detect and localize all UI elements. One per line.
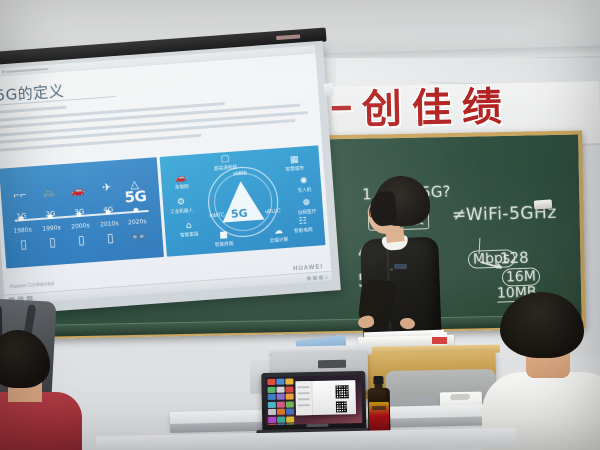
icon-feature-phone: ▯ <box>43 234 62 249</box>
satellite-item: ⚙工业机器人 <box>165 196 198 215</box>
taskbar-tray[interactable]: △ <box>307 274 328 281</box>
slide-footer: Huawei Confidential <box>10 281 55 290</box>
presenter-badge <box>394 264 407 269</box>
icon-bicycle: 🚲 <box>38 184 59 198</box>
satellite-item: ✺无人机 <box>287 175 320 194</box>
satellite-item: ⌂智能家居 <box>172 220 205 239</box>
timeline-gen-3: 3G <box>74 208 84 217</box>
satellite-item: ▢超高清视频 <box>208 153 243 172</box>
seated-student <box>486 292 600 450</box>
os-taskbar: △ <box>4 271 332 305</box>
timeline-year-1: 1980s <box>9 226 35 235</box>
seated-student-left <box>0 330 98 450</box>
banner-char-1: 创 <box>361 89 402 130</box>
satellite-item: 🚗车联网 <box>165 172 198 191</box>
timeline-year-4: 2010s <box>96 220 122 229</box>
paper-cup-band <box>432 337 447 344</box>
icon-car: 🚗 <box>67 183 88 197</box>
screen-side-clip <box>324 83 334 96</box>
chalk-note-128: 128 <box>500 249 529 268</box>
icon-vr-goggles: 👓 <box>128 229 149 244</box>
laptop-screen[interactable] <box>265 375 362 425</box>
triangle-center-label: 5G <box>231 207 249 221</box>
toolbar-line <box>6 68 48 73</box>
slide-infographic: ⌐⌐ 🚲 🚗 ✈ △ 1G 2G 3G 4G 5G 1980s 1990s 20… <box>0 145 326 268</box>
qr-code-icon <box>336 401 347 412</box>
triangle-corner-right: uRLLC <box>260 208 286 216</box>
timeline-panel: ⌐⌐ 🚲 🚗 ✈ △ 1G 2G 3G 4G 5G 1980s 1990s 20… <box>0 157 164 268</box>
satellite-item: ▦智慧城市 <box>278 154 311 173</box>
bottle-cap <box>373 376 383 384</box>
left-student-hair <box>0 330 50 388</box>
laptop-brand-mark <box>306 424 328 427</box>
satellite-item: ☸远程医疗 <box>291 197 322 216</box>
banner-char-2: 佳 <box>411 88 452 129</box>
icon-smartphone: ▯ <box>101 230 120 245</box>
bottle-label <box>369 402 390 432</box>
satellite-item: ☷智能电网 <box>286 216 319 235</box>
chalk-eraser <box>534 199 553 209</box>
timeline-gen-4: 4G <box>103 206 113 215</box>
laptop-lid <box>261 371 366 433</box>
timeline-gen-5: 5G <box>124 187 147 207</box>
capability-panel: 5G eMBB mMTC uRLLC ▢超高清视频 ▦智慧城市 🚗车联网 ⚙工业… <box>160 145 326 256</box>
icon-ox-cart: ⌐⌐ <box>10 189 31 202</box>
desktop-icon-grid[interactable] <box>267 378 294 423</box>
screen-bar-label <box>276 34 300 40</box>
banner-char-3: 绩 <box>461 87 502 128</box>
screen-surface: 5G的定义 <box>0 41 341 316</box>
timeline-gen-1: 1G <box>16 212 26 221</box>
timeline-year-2: 1990s <box>38 224 64 233</box>
projection-screen: 5G的定义 <box>0 27 345 324</box>
student-hair <box>500 292 584 358</box>
satellite-item: ■智能终端 <box>207 229 240 248</box>
tissue-box-slot <box>450 394 470 401</box>
timeline-gen-2: 2G <box>45 210 55 219</box>
icon-brick-phone: ▯ <box>14 237 33 252</box>
timeline-year-3: 2000s <box>67 222 93 231</box>
presentation-slide: 5G的定义 <box>0 45 332 304</box>
printer-control-panel[interactable] <box>318 360 346 369</box>
classroom-photo: 一 创 佳 绩 1.什么是5G? 5G频段 ≠ WiFi-5GHz 4G 5G … <box>0 0 600 450</box>
toolbar-dots <box>0 70 5 74</box>
icon-candybar-phone: ▯ <box>72 232 91 247</box>
laptop-app-window[interactable] <box>295 380 356 415</box>
qr-code-icon <box>335 385 348 398</box>
timeline-year-5: 2020s <box>124 218 150 227</box>
banner-char-partial: 一 <box>331 90 352 131</box>
icon-airplane: ✈ <box>96 180 117 194</box>
